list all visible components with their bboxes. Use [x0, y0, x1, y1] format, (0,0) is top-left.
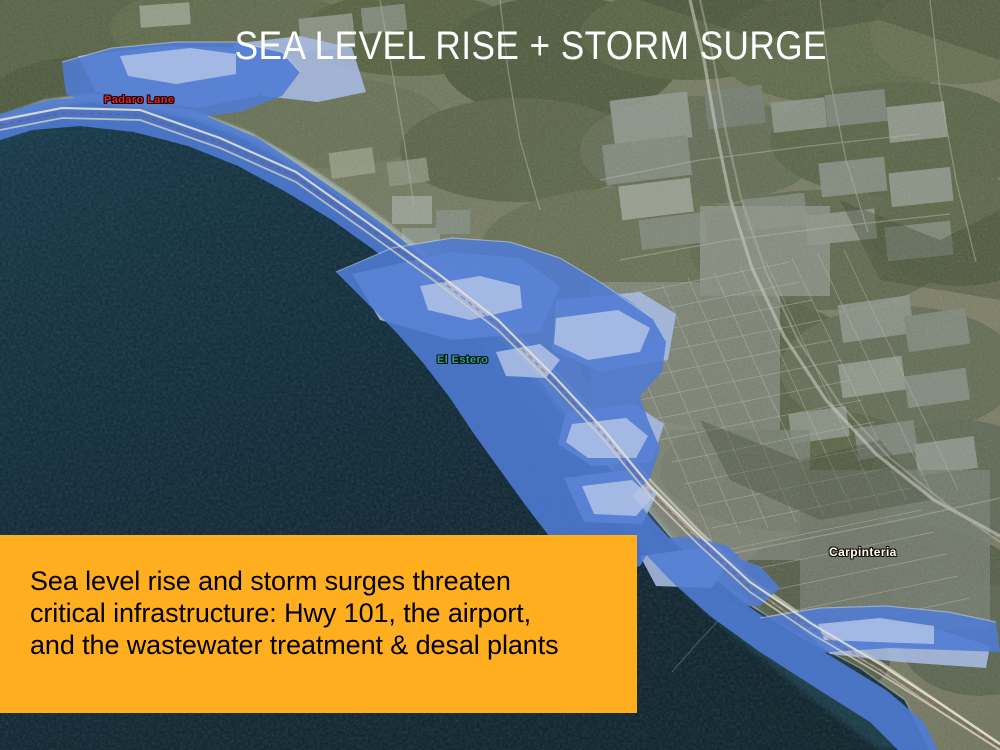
caption-text: Sea level rise and storm surges threaten… [30, 565, 619, 661]
caption-box: Sea level rise and storm surges threaten… [0, 535, 637, 713]
slide-root: Padaro Lane El Estero Carpinteria SEA LE… [0, 0, 1000, 750]
